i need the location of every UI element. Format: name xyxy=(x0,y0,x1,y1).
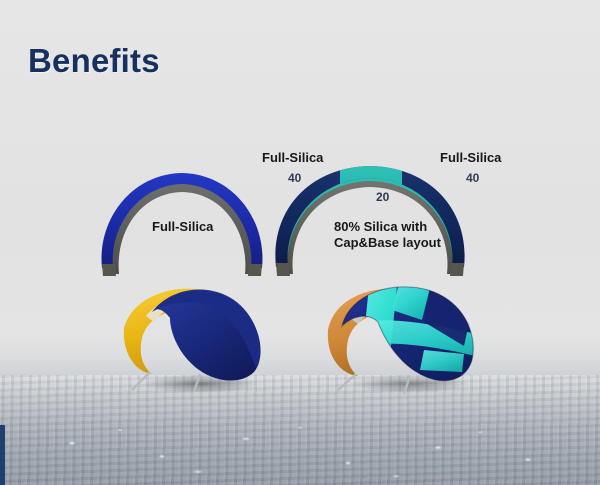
bead-right xyxy=(248,264,262,276)
bead-wire-left xyxy=(338,374,356,390)
shoulder-right-label: Full-Silica xyxy=(440,150,501,165)
full-silica-3d-tire xyxy=(108,276,278,396)
left-section-label: Full-Silica xyxy=(152,219,213,234)
left-accent-bar xyxy=(0,425,5,485)
crown-value: 20 xyxy=(376,190,389,204)
shoulder-left-value: 40 xyxy=(288,171,301,185)
slide-canvas: Benefits Full-Silica xyxy=(0,0,600,485)
shoulder-right-value: 40 xyxy=(466,171,479,185)
page-title: Benefits xyxy=(28,42,160,80)
cap-and-base-3d-tire xyxy=(312,276,487,396)
shoulder-left-label: Full-Silica xyxy=(262,150,323,165)
right-section-label-line1: 80% Silica with xyxy=(334,219,427,234)
right-section-label-line2: Cap&Base layout xyxy=(334,235,441,250)
bead-left xyxy=(276,263,290,276)
wet-road-surface xyxy=(0,375,600,485)
road-haze xyxy=(0,333,600,375)
bead-left xyxy=(102,264,116,276)
bead-right xyxy=(450,263,464,276)
